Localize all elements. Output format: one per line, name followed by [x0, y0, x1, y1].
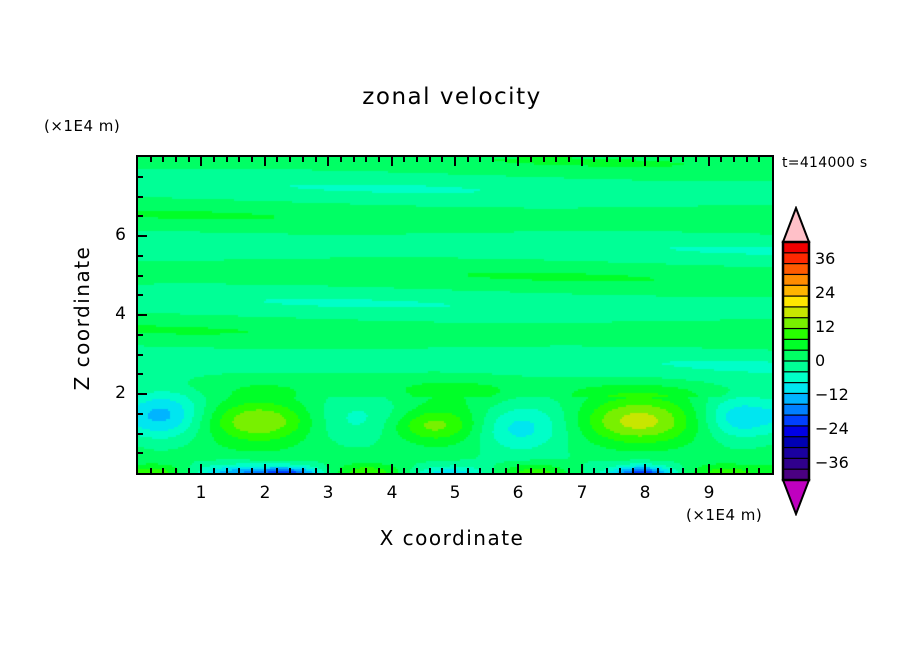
y-tick-label: 4	[102, 304, 126, 324]
y-tick-minor	[138, 294, 143, 296]
x-tick-major	[391, 464, 393, 473]
x-tick-major-top	[264, 157, 266, 166]
x-tick-minor	[150, 468, 152, 473]
y-tick-minor	[138, 354, 143, 356]
x-tick-minor	[238, 468, 240, 473]
x-tick-minor	[619, 468, 621, 473]
x-tick-minor-top	[429, 157, 431, 162]
y-tick-minor	[138, 196, 143, 198]
x-tick-minor-top	[505, 157, 507, 162]
y-tick-major	[138, 235, 147, 237]
y-tick-major	[138, 393, 147, 395]
x-tick-minor-top	[315, 157, 317, 162]
x-tick-minor	[632, 468, 634, 473]
x-tick-minor-top	[530, 157, 532, 162]
y-tick-minor	[138, 215, 143, 217]
y-tick-minor	[138, 373, 143, 375]
x-tick-label: 7	[567, 483, 597, 503]
x-tick-label: 5	[440, 483, 470, 503]
x-tick-minor-top	[251, 157, 253, 162]
x-tick-minor-top	[733, 157, 735, 162]
colorbar-tick-label: 36	[815, 249, 835, 268]
x-tick-label: 1	[186, 483, 216, 503]
y-tick-minor	[138, 433, 143, 435]
x-tick-minor	[213, 468, 215, 473]
colorbar-tick-label: 0	[815, 351, 825, 370]
y-tick-label: 6	[102, 225, 126, 245]
x-tick-minor-top	[302, 157, 304, 162]
x-tick-minor	[682, 468, 684, 473]
x-tick-minor-top	[162, 157, 164, 162]
x-tick-minor-top	[416, 157, 418, 162]
x-tick-minor-top	[695, 157, 697, 162]
x-tick-minor	[543, 468, 545, 473]
y-tick-minor	[138, 413, 143, 415]
x-tick-major	[264, 464, 266, 473]
x-tick-minor-top	[758, 157, 760, 162]
x-tick-major	[327, 464, 329, 473]
x-tick-minor-top	[150, 157, 152, 162]
x-tick-major	[454, 464, 456, 473]
x-tick-label: 4	[377, 483, 407, 503]
x-tick-minor	[530, 468, 532, 473]
x-tick-minor	[568, 468, 570, 473]
x-tick-minor	[758, 468, 760, 473]
x-axis-title: X coordinate	[0, 526, 904, 550]
x-tick-minor	[162, 468, 164, 473]
x-tick-major	[517, 464, 519, 473]
x-tick-minor-top	[238, 157, 240, 162]
x-tick-major	[644, 464, 646, 473]
x-tick-minor	[353, 468, 355, 473]
x-tick-major-top	[517, 157, 519, 166]
x-tick-minor	[606, 468, 608, 473]
contour-plot-area	[136, 155, 774, 475]
x-tick-minor-top	[403, 157, 405, 162]
x-tick-major-top	[708, 157, 710, 166]
x-tick-minor	[188, 468, 190, 473]
x-tick-major-top	[200, 157, 202, 166]
x-tick-minor-top	[365, 157, 367, 162]
x-tick-major-top	[454, 157, 456, 166]
x-tick-minor-top	[353, 157, 355, 162]
x-tick-major	[200, 464, 202, 473]
chart-title: zonal velocity	[0, 84, 904, 110]
x-tick-minor-top	[441, 157, 443, 162]
x-tick-minor	[657, 468, 659, 473]
colorbar-tick-label: 24	[815, 283, 835, 302]
x-tick-label: 2	[250, 483, 280, 503]
x-tick-minor-top	[175, 157, 177, 162]
x-tick-minor	[226, 468, 228, 473]
x-tick-minor-top	[555, 157, 557, 162]
y-tick-minor	[138, 275, 143, 277]
x-tick-minor	[403, 468, 405, 473]
x-tick-minor-top	[188, 157, 190, 162]
x-tick-minor	[505, 468, 507, 473]
x-tick-minor	[251, 468, 253, 473]
x-tick-minor-top	[657, 157, 659, 162]
y-tick-major	[138, 314, 147, 316]
timestamp-annotation: t=414000 s	[782, 155, 867, 171]
x-tick-minor-top	[606, 157, 608, 162]
x-tick-minor	[720, 468, 722, 473]
x-tick-minor	[365, 468, 367, 473]
x-tick-minor	[670, 468, 672, 473]
y-tick-minor	[138, 255, 143, 257]
x-tick-minor-top	[632, 157, 634, 162]
x-tick-major-top	[644, 157, 646, 166]
x-tick-minor-top	[720, 157, 722, 162]
x-tick-minor	[315, 468, 317, 473]
x-tick-minor-top	[340, 157, 342, 162]
x-tick-minor	[695, 468, 697, 473]
y-tick-minor	[138, 176, 143, 178]
x-tick-major-top	[327, 157, 329, 166]
x-tick-minor	[479, 468, 481, 473]
x-tick-minor	[302, 468, 304, 473]
x-tick-label: 3	[313, 483, 343, 503]
x-tick-minor-top	[213, 157, 215, 162]
colorbar-tick-label: −12	[815, 385, 849, 404]
x-tick-minor	[416, 468, 418, 473]
x-tick-major-top	[391, 157, 393, 166]
x-tick-minor	[441, 468, 443, 473]
x-tick-minor-top	[593, 157, 595, 162]
x-tick-minor-top	[568, 157, 570, 162]
x-tick-major	[708, 464, 710, 473]
y-axis-unit-label: (×1E4 m)	[44, 117, 120, 135]
contour-field-canvas	[138, 157, 774, 475]
x-tick-minor-top	[670, 157, 672, 162]
y-tick-minor	[138, 452, 143, 454]
colorbar-tick-label: 12	[815, 317, 835, 336]
x-tick-minor	[746, 468, 748, 473]
x-tick-minor-top	[289, 157, 291, 162]
y-tick-label: 2	[102, 383, 126, 403]
y-tick-minor	[138, 334, 143, 336]
colorbar-tick-label: −36	[815, 453, 849, 472]
x-tick-minor-top	[276, 157, 278, 162]
x-tick-minor-top	[378, 157, 380, 162]
x-tick-minor-top	[682, 157, 684, 162]
x-tick-minor	[593, 468, 595, 473]
x-tick-minor-top	[467, 157, 469, 162]
x-tick-minor	[555, 468, 557, 473]
x-tick-minor-top	[543, 157, 545, 162]
x-tick-minor	[429, 468, 431, 473]
colorbar-tick-label: −24	[815, 419, 849, 438]
x-tick-minor-top	[479, 157, 481, 162]
x-tick-minor	[276, 468, 278, 473]
x-tick-minor-top	[746, 157, 748, 162]
x-tick-major-top	[581, 157, 583, 166]
x-tick-minor	[467, 468, 469, 473]
x-tick-minor	[733, 468, 735, 473]
x-tick-major	[581, 464, 583, 473]
x-tick-minor	[492, 468, 494, 473]
x-tick-label: 6	[503, 483, 533, 503]
x-tick-minor	[289, 468, 291, 473]
x-tick-minor	[340, 468, 342, 473]
y-axis-title: Z coordinate	[70, 198, 94, 438]
x-tick-minor	[378, 468, 380, 473]
colorbar: 3624120−12−24−36	[779, 206, 899, 516]
x-tick-label: 8	[630, 483, 660, 503]
x-tick-label: 9	[694, 483, 724, 503]
x-axis-unit-label: (×1E4 m)	[686, 506, 762, 524]
x-tick-minor-top	[226, 157, 228, 162]
x-tick-minor-top	[492, 157, 494, 162]
x-tick-minor	[175, 468, 177, 473]
x-tick-minor-top	[619, 157, 621, 162]
